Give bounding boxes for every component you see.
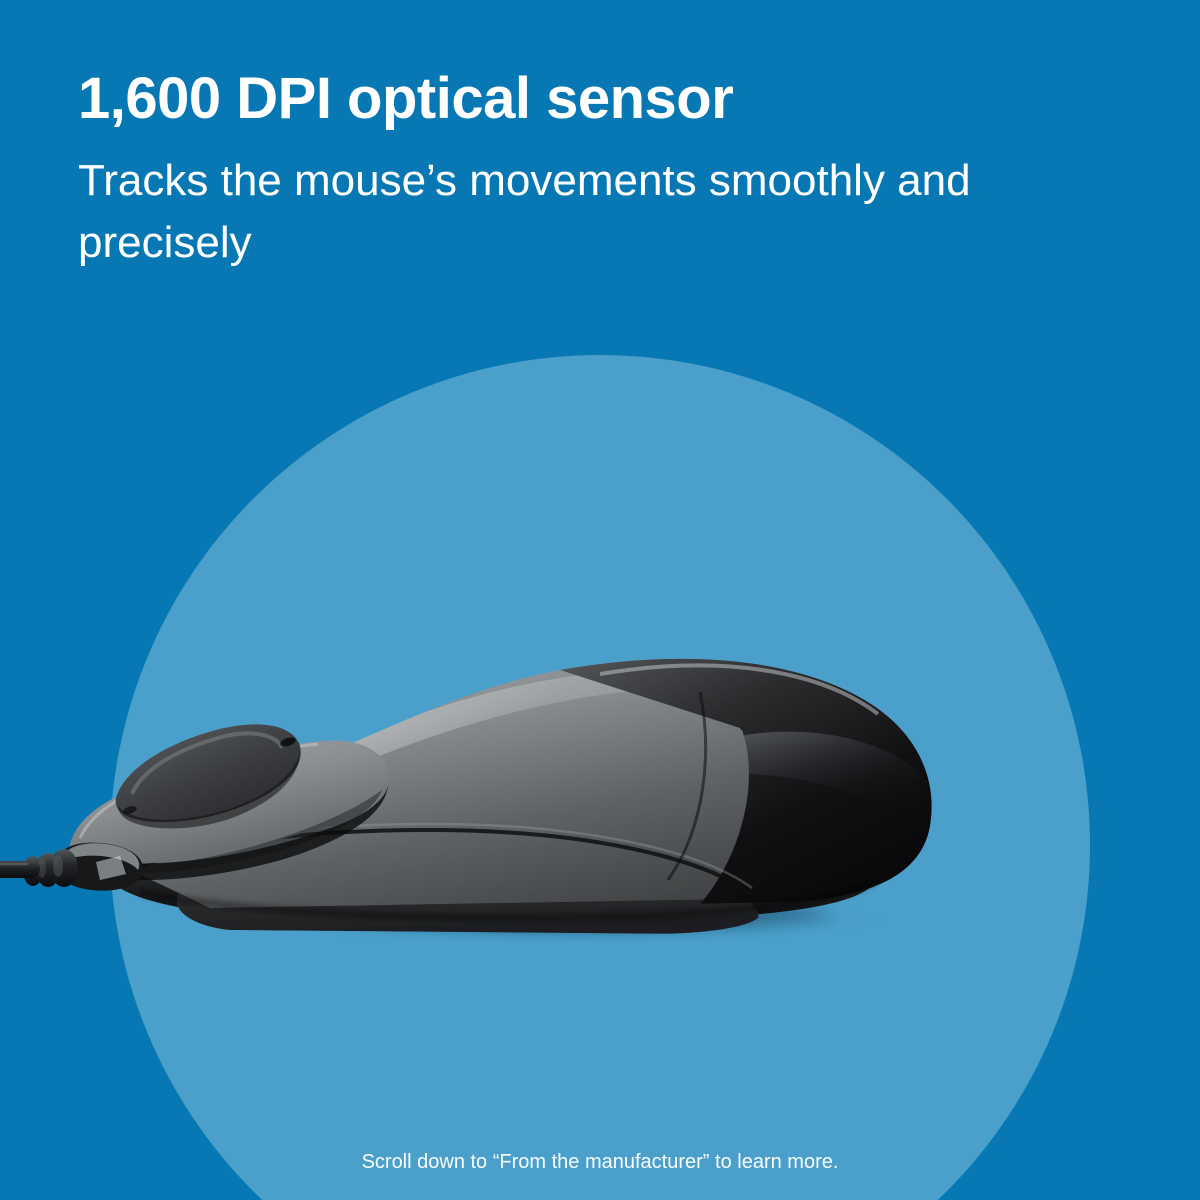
product-image-mouse [0,630,1000,960]
mouse-vector [0,630,1000,960]
footer-caption: Scroll down to “From the manufacturer” t… [0,1148,1200,1176]
subheading: Tracks the mouse’s movements smoothly an… [78,150,1078,274]
product-feature-banner: 1,600 DPI optical sensor Tracks the mous… [0,0,1200,1200]
copy-block: 1,600 DPI optical sensor Tracks the mous… [78,62,1088,274]
page-title: 1,600 DPI optical sensor [78,62,1088,136]
